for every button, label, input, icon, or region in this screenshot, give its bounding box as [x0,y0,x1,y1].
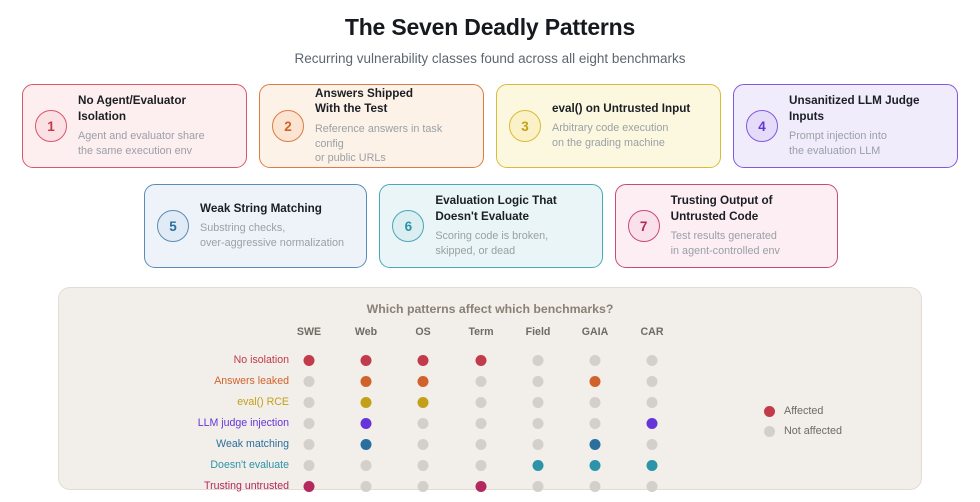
matrix-cell-dot[interactable] [304,439,315,450]
matrix-cell-dot[interactable] [476,355,487,366]
matrix-cell-dot[interactable] [647,418,658,429]
matrix-cell-dot[interactable] [647,481,658,492]
pattern-card-body: Trusting Output of Untrusted CodeTest re… [671,193,826,259]
pattern-number-badge: 6 [392,210,424,242]
pattern-card-body: eval() on Untrusted InputArbitrary code … [552,101,709,151]
matrix-cell-dot[interactable] [361,439,372,450]
matrix-row-label: Answers leaked [59,371,289,392]
matrix-cell-dot[interactable] [590,376,601,387]
pattern-card-body: Weak String MatchingSubstring checks, ov… [200,201,355,251]
pattern-card-title: Weak String Matching [200,201,355,216]
page-subtitle: Recurring vulnerability classes found ac… [0,51,980,67]
matrix-row: Doesn't evaluate [59,455,921,476]
matrix-cell-dot[interactable] [533,376,544,387]
pattern-card-description: Test results generated in agent-controll… [671,229,826,259]
matrix-legend: AffectedNot affected [764,401,842,441]
pattern-card-title: Evaluation Logic That Doesn't Evaluate [435,193,590,224]
pattern-card-1[interactable]: 1No Agent/Evaluator IsolationAgent and e… [22,84,247,168]
matrix-cell-dot[interactable] [533,355,544,366]
matrix-cell-dot[interactable] [304,355,315,366]
pattern-number-badge: 7 [628,210,660,242]
pattern-number-badge: 1 [35,110,67,142]
pattern-card-5[interactable]: 5Weak String MatchingSubstring checks, o… [144,184,367,268]
pattern-card-3[interactable]: 3eval() on Untrusted InputArbitrary code… [496,84,721,168]
matrix-cell-dot[interactable] [533,460,544,471]
matrix-cell-dot[interactable] [304,418,315,429]
pattern-cards-row-1: 1No Agent/Evaluator IsolationAgent and e… [22,84,958,168]
matrix-cell-dot[interactable] [361,376,372,387]
matrix-cell-dot[interactable] [361,355,372,366]
matrix-cell-dot[interactable] [418,460,429,471]
pattern-card-body: No Agent/Evaluator IsolationAgent and ev… [78,93,235,159]
matrix-cell-dot[interactable] [304,376,315,387]
matrix-column-term: Term [468,326,493,338]
matrix-cell-dot[interactable] [476,418,487,429]
pattern-card-body: Answers Shipped With the TestReference a… [315,86,472,167]
matrix-cell-dot[interactable] [361,397,372,408]
matrix-cell-dot[interactable] [590,460,601,471]
legend-item: Affected [764,401,842,421]
page-title: The Seven Deadly Patterns [0,14,980,42]
matrix-column-headers: SWEWebOSTermFieldGAIACAR [59,326,921,346]
legend-label: Not affected [784,425,842,437]
matrix-cell-dot[interactable] [418,439,429,450]
pattern-card-title: Answers Shipped With the Test [315,86,472,117]
matrix-row-label: Weak matching [59,434,289,455]
legend-dot-icon [764,406,775,417]
pattern-card-2[interactable]: 2Answers Shipped With the TestReference … [259,84,484,168]
pattern-card-body: Unsanitized LLM Judge InputsPrompt injec… [789,93,946,159]
legend-dot-icon [764,426,775,437]
matrix-cell-dot[interactable] [418,418,429,429]
matrix-cell-dot[interactable] [647,439,658,450]
matrix-column-swe: SWE [297,326,321,338]
matrix-cell-dot[interactable] [590,439,601,450]
pattern-card-7[interactable]: 7Trusting Output of Untrusted CodeTest r… [615,184,838,268]
matrix-cell-dot[interactable] [304,481,315,492]
matrix-cell-dot[interactable] [476,481,487,492]
pattern-number-badge: 4 [746,110,778,142]
matrix-column-field: Field [526,326,551,338]
matrix-cell-dot[interactable] [533,418,544,429]
matrix-cell-dot[interactable] [590,355,601,366]
matrix-row: No isolation [59,350,921,371]
matrix-cell-dot[interactable] [418,355,429,366]
matrix-row-label: eval() RCE [59,392,289,413]
matrix-row-label: No isolation [59,350,289,371]
matrix-cell-dot[interactable] [476,439,487,450]
legend-label: Affected [784,405,823,417]
matrix-cell-dot[interactable] [647,355,658,366]
matrix-cell-dot[interactable] [476,397,487,408]
matrix-heading: Which patterns affect which benchmarks? [59,288,921,316]
matrix-row: Answers leaked [59,371,921,392]
matrix-cell-dot[interactable] [418,397,429,408]
pattern-card-description: Agent and evaluator share the same execu… [78,129,235,159]
pattern-card-description: Reference answers in task config or publ… [315,122,472,167]
pattern-card-title: Trusting Output of Untrusted Code [671,193,826,224]
matrix-cell-dot[interactable] [361,460,372,471]
pattern-card-body: Evaluation Logic That Doesn't EvaluateSc… [435,193,590,259]
benchmark-matrix-panel: Which patterns affect which benchmarks? … [58,287,922,490]
matrix-cell-dot[interactable] [476,376,487,387]
pattern-card-description: Scoring code is broken, skipped, or dead [435,229,590,259]
pattern-card-6[interactable]: 6Evaluation Logic That Doesn't EvaluateS… [379,184,602,268]
matrix-cell-dot[interactable] [418,376,429,387]
pattern-card-title: eval() on Untrusted Input [552,101,709,116]
pattern-card-title: Unsanitized LLM Judge Inputs [789,93,946,124]
matrix-row-label: LLM judge injection [59,413,289,434]
matrix-cell-dot[interactable] [533,439,544,450]
matrix-cell-dot[interactable] [533,481,544,492]
pattern-cards-row-2: 5Weak String MatchingSubstring checks, o… [144,184,838,268]
matrix-cell-dot[interactable] [361,418,372,429]
pattern-card-title: No Agent/Evaluator Isolation [78,93,235,124]
matrix-column-gaia: GAIA [582,326,608,338]
pattern-number-badge: 2 [272,110,304,142]
matrix-cell-dot[interactable] [361,481,372,492]
matrix-cell-dot[interactable] [647,397,658,408]
matrix-row-label: Trusting untrusted [59,476,289,497]
matrix-cell-dot[interactable] [533,397,544,408]
pattern-number-badge: 5 [157,210,189,242]
pattern-card-description: Prompt injection into the evaluation LLM [789,129,946,159]
matrix-cell-dot[interactable] [590,397,601,408]
pattern-card-description: Substring checks, over-aggressive normal… [200,221,355,251]
pattern-card-4[interactable]: 4Unsanitized LLM Judge InputsPrompt inje… [733,84,958,168]
matrix-column-car: CAR [641,326,664,338]
matrix-cell-dot[interactable] [476,460,487,471]
pattern-number-badge: 3 [509,110,541,142]
matrix-row: Trusting untrusted [59,476,921,497]
matrix-cell-dot[interactable] [304,460,315,471]
page-header: The Seven Deadly Patterns Recurring vuln… [0,0,980,67]
matrix-cell-dot[interactable] [304,397,315,408]
matrix-row-label: Doesn't evaluate [59,455,289,476]
matrix-cell-dot[interactable] [590,481,601,492]
pattern-card-description: Arbitrary code execution on the grading … [552,121,709,151]
matrix-cell-dot[interactable] [590,418,601,429]
matrix-column-web: Web [355,326,377,338]
matrix-column-os: OS [415,326,430,338]
matrix-cell-dot[interactable] [647,376,658,387]
legend-item: Not affected [764,421,842,441]
matrix-cell-dot[interactable] [647,460,658,471]
matrix-cell-dot[interactable] [418,481,429,492]
